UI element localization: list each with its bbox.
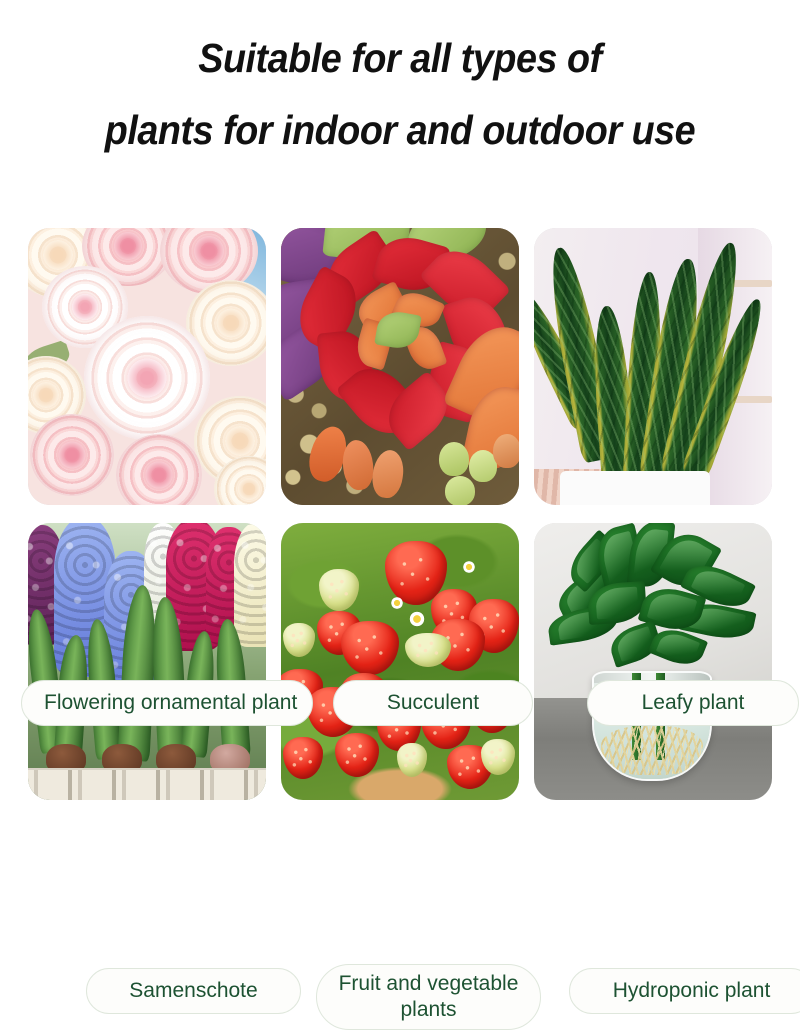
page-title: Suitable for all types of plants for ind… xyxy=(32,22,768,166)
photo-hydroponic-plant xyxy=(534,523,772,800)
photo-succulent xyxy=(281,228,519,505)
caption-samenschote[interactable]: Samenschote xyxy=(86,968,301,1014)
page-title-line-1: Suitable for all types of xyxy=(198,35,602,81)
caption-fruit-and-vegetable-plants[interactable]: Fruit and vegetable plants xyxy=(316,964,541,1030)
plant-card-hydroponic-plant[interactable] xyxy=(534,523,772,800)
orange-nub xyxy=(493,434,519,468)
green-nub xyxy=(445,476,475,505)
strawberry-blossom xyxy=(389,595,405,611)
page-title-line-2: plants for indoor and outdoor use xyxy=(32,94,768,166)
photo-fruit-and-vegetable-plants xyxy=(281,523,519,800)
plant-type-grid: Flowering ornamental plant Succulent Lea… xyxy=(28,228,772,800)
plant-card-leafy-plant[interactable] xyxy=(534,228,772,505)
photo-flowering-ornamental-plant xyxy=(28,228,266,505)
plant-pot xyxy=(560,471,710,505)
caption-leafy-plant[interactable]: Leafy plant xyxy=(587,680,799,726)
plant-tray xyxy=(28,768,266,800)
rose-bloom-main xyxy=(84,316,210,440)
plant-card-fruit-and-vegetable-plants[interactable] xyxy=(281,523,519,800)
plant-card-succulent[interactable] xyxy=(281,228,519,505)
photo-leafy-plant xyxy=(534,228,772,505)
green-nub xyxy=(439,442,469,476)
photo-samenschote xyxy=(28,523,266,800)
rose-bloom xyxy=(116,434,202,505)
plant-card-samenschote[interactable] xyxy=(28,523,266,800)
plant-card-flowering-ornamental-plant[interactable] xyxy=(28,228,266,505)
rose-bloom xyxy=(30,414,114,496)
caption-flowering-ornamental-plant[interactable]: Flowering ornamental plant xyxy=(21,680,313,726)
hyacinth-flower xyxy=(234,523,266,647)
plant-roots xyxy=(601,726,703,775)
strawberry-blossom xyxy=(461,559,477,575)
caption-succulent[interactable]: Succulent xyxy=(333,680,533,726)
strawberry-blossom xyxy=(407,609,427,629)
caption-hydroponic-plant[interactable]: Hydroponic plant xyxy=(569,968,800,1014)
